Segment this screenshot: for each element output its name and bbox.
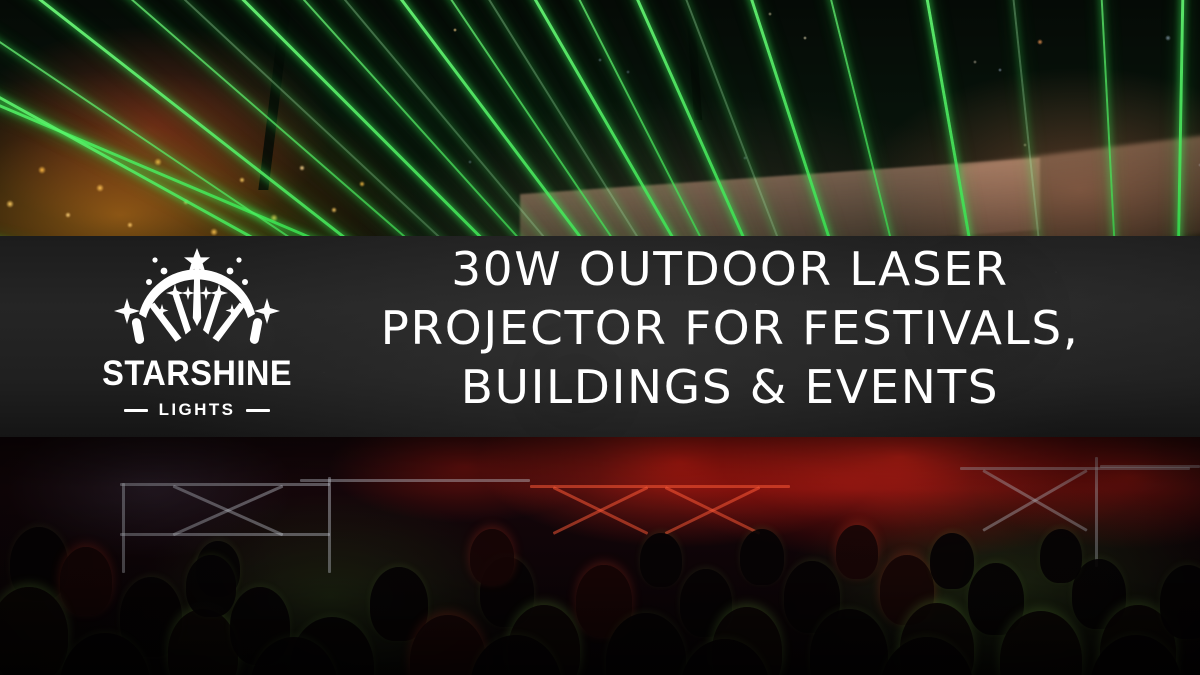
logo-subtext-row: LIGHTS (124, 400, 271, 420)
logo-wordmark: STARSHINE (102, 356, 292, 391)
logo-subtext: LIGHTS (159, 400, 236, 420)
laser-beam (519, 0, 929, 248)
crowd-vignette (0, 437, 1200, 675)
laser-beam (999, 0, 1083, 248)
headline-line-1: 30W OUTDOOR LASER (281, 240, 1179, 299)
logo-dash-right (246, 409, 270, 412)
laser-beam-group (0, 0, 1200, 248)
headline-line-2: PROJECTOR FOR FESTIVALS, (281, 299, 1179, 358)
laser-beam (469, 0, 947, 248)
bottom-photo-crowd (0, 437, 1200, 675)
laser-beam (94, 0, 1010, 248)
headline-block: 30W OUTDOOR LASER PROJECTOR FOR FESTIVAL… (281, 240, 1179, 417)
laser-beam (0, 0, 1094, 248)
logo-dash-left (124, 409, 148, 412)
laser-beam (377, 0, 949, 248)
starburst-crown-icon (109, 246, 285, 354)
laser-beam (1170, 0, 1186, 248)
laser-beam (1094, 0, 1136, 248)
headline-line-3: BUILDINGS & EVENTS (281, 358, 1179, 417)
top-photo-laser-beams (0, 0, 1200, 248)
starshine-lights-logo: STARSHINE LIGHTS (92, 246, 302, 432)
laser-beam (904, 0, 1044, 248)
hero-banner-image: STARSHINE LIGHTS 30W OUTDOOR LASER PROJE… (0, 0, 1200, 675)
